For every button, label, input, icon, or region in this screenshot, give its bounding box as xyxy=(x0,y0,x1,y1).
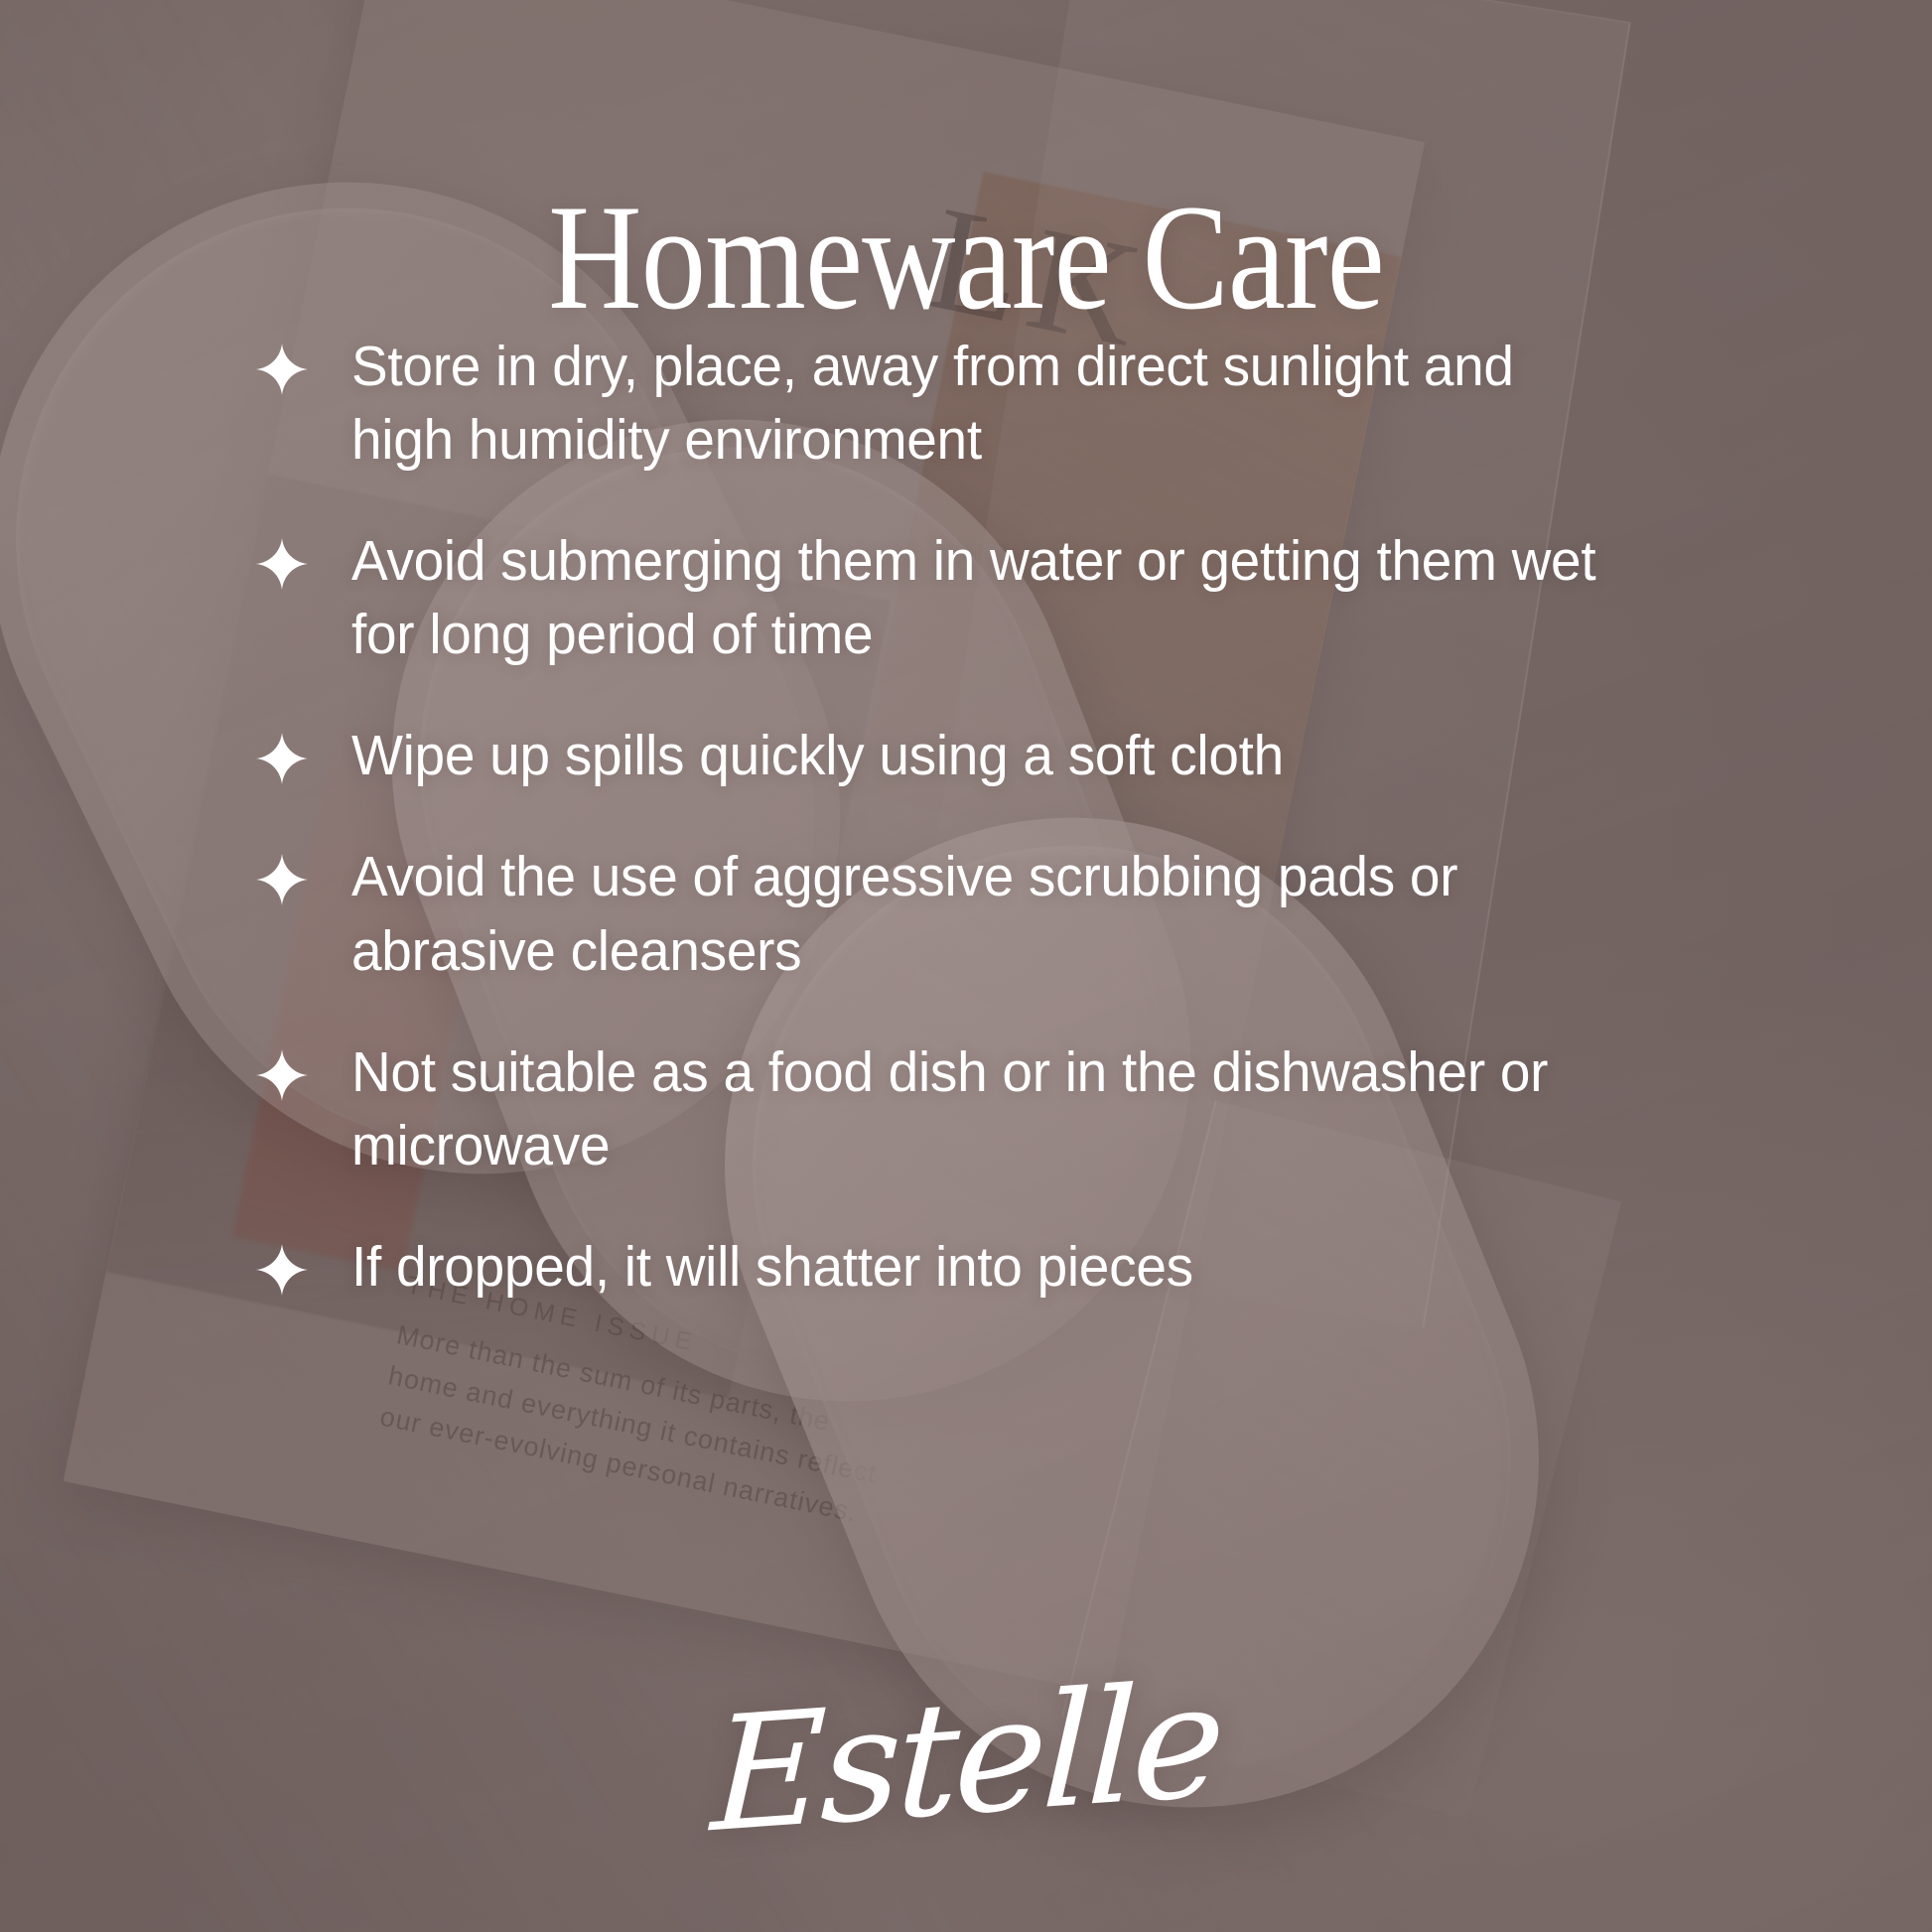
list-item: Store in dry, place, away from direct su… xyxy=(256,330,1676,477)
care-instruction-list: Store in dry, place, away from direct su… xyxy=(256,330,1676,1304)
sparkle-icon xyxy=(256,733,308,784)
list-item: Wipe up spills quickly using a soft clot… xyxy=(256,719,1676,792)
brand-signature: Estelle xyxy=(0,1612,1932,1905)
sparkle-icon xyxy=(256,344,308,395)
list-item: Avoid the use of aggressive scrubbing pa… xyxy=(256,840,1676,987)
list-item-label: Avoid the use of aggressive scrubbing pa… xyxy=(351,840,1629,987)
sparkle-icon xyxy=(256,1244,308,1296)
list-item: Not suitable as a food dish or in the di… xyxy=(256,1035,1676,1182)
sparkle-icon xyxy=(256,854,308,905)
sparkle-icon xyxy=(256,538,308,590)
homeware-care-graphic: LK THE HOME ISSUE More than the sum of i… xyxy=(0,0,1932,1932)
list-item-label: Store in dry, place, away from direct su… xyxy=(351,330,1629,477)
page-title: Homeware Care xyxy=(135,179,1797,338)
content-layer: Homeware Care Store in dry, place, away … xyxy=(0,0,1932,1932)
list-item: If dropped, it will shatter into pieces xyxy=(256,1230,1676,1304)
list-item-label: If dropped, it will shatter into pieces xyxy=(351,1230,1193,1304)
list-item-label: Not suitable as a food dish or in the di… xyxy=(351,1035,1629,1182)
list-item-label: Wipe up spills quickly using a soft clot… xyxy=(351,719,1284,792)
sparkle-icon xyxy=(256,1049,308,1101)
list-item: Avoid submerging them in water or gettin… xyxy=(256,524,1676,671)
list-item-label: Avoid submerging them in water or gettin… xyxy=(351,524,1629,671)
